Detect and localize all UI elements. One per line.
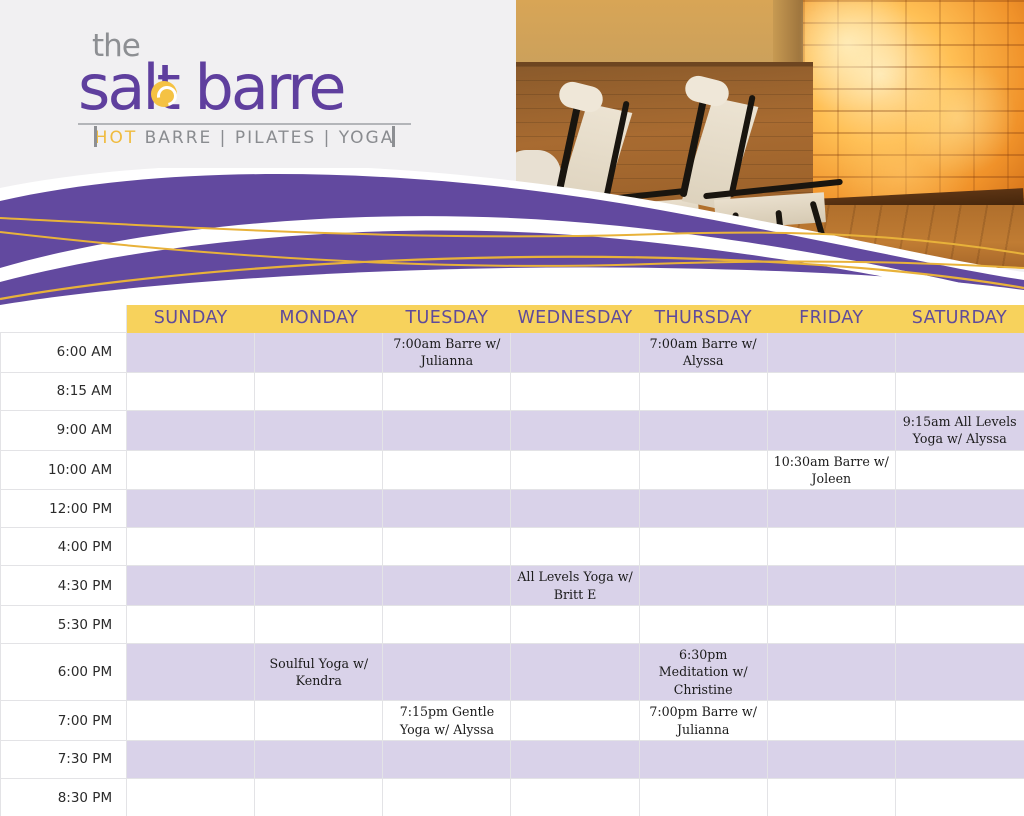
empty-slot (127, 410, 255, 450)
empty-slot (383, 740, 511, 778)
schedule-table-head: SUNDAY MONDAY TUESDAY WEDNESDAY THURSDAY… (1, 306, 1024, 333)
logo-tagline-hot: HOT (95, 128, 138, 148)
time-label: 7:30 PM (1, 740, 127, 778)
class-entry[interactable]: All Levels Yoga w/ Britt E (511, 566, 639, 606)
empty-slot (255, 740, 383, 778)
class-entry[interactable]: 10:30am Barre w/ Joleen (767, 450, 895, 490)
time-column-header (1, 306, 127, 333)
time-label: 6:00 PM (1, 644, 127, 701)
schedule-row: 7:00 PM7:15pm Gentle Yoga w/ Alyssa7:00p… (1, 701, 1024, 741)
class-entry[interactable]: 9:15am All Levels Yoga w/ Alyssa (895, 410, 1023, 450)
empty-slot (511, 372, 639, 410)
class-entry[interactable]: 7:15pm Gentle Yoga w/ Alyssa (383, 701, 511, 741)
empty-slot (895, 490, 1023, 528)
schedule-row: 6:00 PMSoulful Yoga w/ Kendra6:30pm Medi… (1, 644, 1024, 701)
empty-slot (255, 606, 383, 644)
empty-slot (639, 778, 767, 816)
empty-slot (511, 450, 639, 490)
empty-slot (511, 644, 639, 701)
logo-tagline: HOT BARRE | PILATES | YOGA (95, 128, 395, 148)
empty-slot (255, 333, 383, 373)
empty-slot (383, 410, 511, 450)
empty-slot (383, 528, 511, 566)
wave-graphic (0, 168, 1024, 305)
empty-slot (511, 490, 639, 528)
day-header-tuesday[interactable]: TUESDAY (383, 306, 511, 333)
logo-tagline-wrap: HOT BARRE | PILATES | YOGA (78, 125, 411, 151)
empty-slot (895, 372, 1023, 410)
schedule-row: 7:30 PM (1, 740, 1024, 778)
schedule-row: 6:00 AM7:00am Barre w/ Julianna7:00am Ba… (1, 333, 1024, 373)
empty-slot (127, 333, 255, 373)
page-header: the salt barre HOT BARRE | PILATES | YOG… (0, 0, 1024, 305)
schedule-row: 5:30 PM (1, 606, 1024, 644)
schedule-row: 9:00 AM9:15am All Levels Yoga w/ Alyssa (1, 410, 1024, 450)
day-header-monday[interactable]: MONDAY (255, 306, 383, 333)
time-label: 6:00 AM (1, 333, 127, 373)
empty-slot (127, 701, 255, 741)
empty-slot (639, 606, 767, 644)
time-label: 8:30 PM (1, 778, 127, 816)
class-entry[interactable]: 7:00pm Barre w/ Julianna (639, 701, 767, 741)
salt-swirl-icon (151, 81, 177, 107)
empty-slot (767, 701, 895, 741)
time-label: 12:00 PM (1, 490, 127, 528)
empty-slot (383, 566, 511, 606)
empty-slot (255, 566, 383, 606)
empty-slot (639, 566, 767, 606)
empty-slot (255, 450, 383, 490)
empty-slot (255, 410, 383, 450)
empty-slot (767, 410, 895, 450)
empty-slot (383, 778, 511, 816)
empty-slot (127, 566, 255, 606)
empty-slot (895, 701, 1023, 741)
schedule-row: 4:00 PM (1, 528, 1024, 566)
schedule-table: SUNDAY MONDAY TUESDAY WEDNESDAY THURSDAY… (0, 305, 1024, 816)
wave-svg (0, 168, 1024, 305)
empty-slot (895, 606, 1023, 644)
empty-slot (767, 778, 895, 816)
time-label: 7:00 PM (1, 701, 127, 741)
empty-slot (127, 606, 255, 644)
empty-slot (511, 333, 639, 373)
empty-slot (511, 410, 639, 450)
day-header-saturday[interactable]: SATURDAY (895, 306, 1023, 333)
time-label: 5:30 PM (1, 606, 127, 644)
empty-slot (895, 528, 1023, 566)
empty-slot (895, 644, 1023, 701)
empty-slot (383, 606, 511, 644)
empty-slot (127, 644, 255, 701)
empty-slot (895, 778, 1023, 816)
empty-slot (511, 740, 639, 778)
brand-logo: the salt barre HOT BARRE | PILATES | YOG… (78, 32, 418, 151)
schedule-row: 12:00 PM (1, 490, 1024, 528)
time-label: 4:30 PM (1, 566, 127, 606)
day-header-row: SUNDAY MONDAY TUESDAY WEDNESDAY THURSDAY… (1, 306, 1024, 333)
empty-slot (639, 410, 767, 450)
empty-slot (895, 566, 1023, 606)
empty-slot (767, 372, 895, 410)
logo-wordmark-text: salt barre (78, 51, 344, 124)
empty-slot (767, 606, 895, 644)
empty-slot (767, 490, 895, 528)
empty-slot (255, 778, 383, 816)
empty-slot (639, 528, 767, 566)
empty-slot (127, 778, 255, 816)
empty-slot (127, 528, 255, 566)
class-entry[interactable]: Soulful Yoga w/ Kendra (255, 644, 383, 701)
logo-tagline-rest: BARRE | PILATES | YOGA (145, 128, 395, 148)
empty-slot (767, 566, 895, 606)
empty-slot (383, 372, 511, 410)
empty-slot (127, 372, 255, 410)
schedule-row: 8:30 PM (1, 778, 1024, 816)
empty-slot (895, 740, 1023, 778)
empty-slot (895, 333, 1023, 373)
time-label: 4:00 PM (1, 528, 127, 566)
schedule-table-body: 6:00 AM7:00am Barre w/ Julianna7:00am Ba… (1, 333, 1024, 816)
class-entry[interactable]: 6:30pm Meditation w/ Christine (639, 644, 767, 701)
empty-slot (127, 490, 255, 528)
empty-slot (767, 528, 895, 566)
empty-slot (767, 644, 895, 701)
empty-slot (383, 490, 511, 528)
day-header-friday[interactable]: FRIDAY (767, 306, 895, 333)
empty-slot (127, 450, 255, 490)
time-label: 8:15 AM (1, 372, 127, 410)
empty-slot (255, 528, 383, 566)
empty-slot (639, 372, 767, 410)
class-entry[interactable]: 7:00am Barre w/ Julianna (383, 333, 511, 373)
time-label: 10:00 AM (1, 450, 127, 490)
empty-slot (895, 450, 1023, 490)
empty-slot (511, 606, 639, 644)
empty-slot (127, 740, 255, 778)
schedule-row: 4:30 PMAll Levels Yoga w/ Britt E (1, 566, 1024, 606)
schedule-row: 8:15 AM (1, 372, 1024, 410)
day-header-sunday[interactable]: SUNDAY (127, 306, 255, 333)
empty-slot (511, 701, 639, 741)
class-entry[interactable]: 7:00am Barre w/ Alyssa (639, 333, 767, 373)
day-header-thursday[interactable]: THURSDAY (639, 306, 767, 333)
empty-slot (383, 450, 511, 490)
empty-slot (255, 372, 383, 410)
empty-slot (639, 740, 767, 778)
time-label: 9:00 AM (1, 410, 127, 450)
empty-slot (255, 490, 383, 528)
empty-slot (639, 490, 767, 528)
empty-slot (511, 778, 639, 816)
class-schedule: SUNDAY MONDAY TUESDAY WEDNESDAY THURSDAY… (0, 305, 1024, 816)
logo-wordmark: salt barre (78, 55, 418, 120)
empty-slot (767, 740, 895, 778)
day-header-wednesday[interactable]: WEDNESDAY (511, 306, 639, 333)
empty-slot (383, 644, 511, 701)
empty-slot (767, 333, 895, 373)
schedule-row: 10:00 AM10:30am Barre w/ Joleen (1, 450, 1024, 490)
empty-slot (511, 528, 639, 566)
empty-slot (639, 450, 767, 490)
empty-slot (255, 701, 383, 741)
